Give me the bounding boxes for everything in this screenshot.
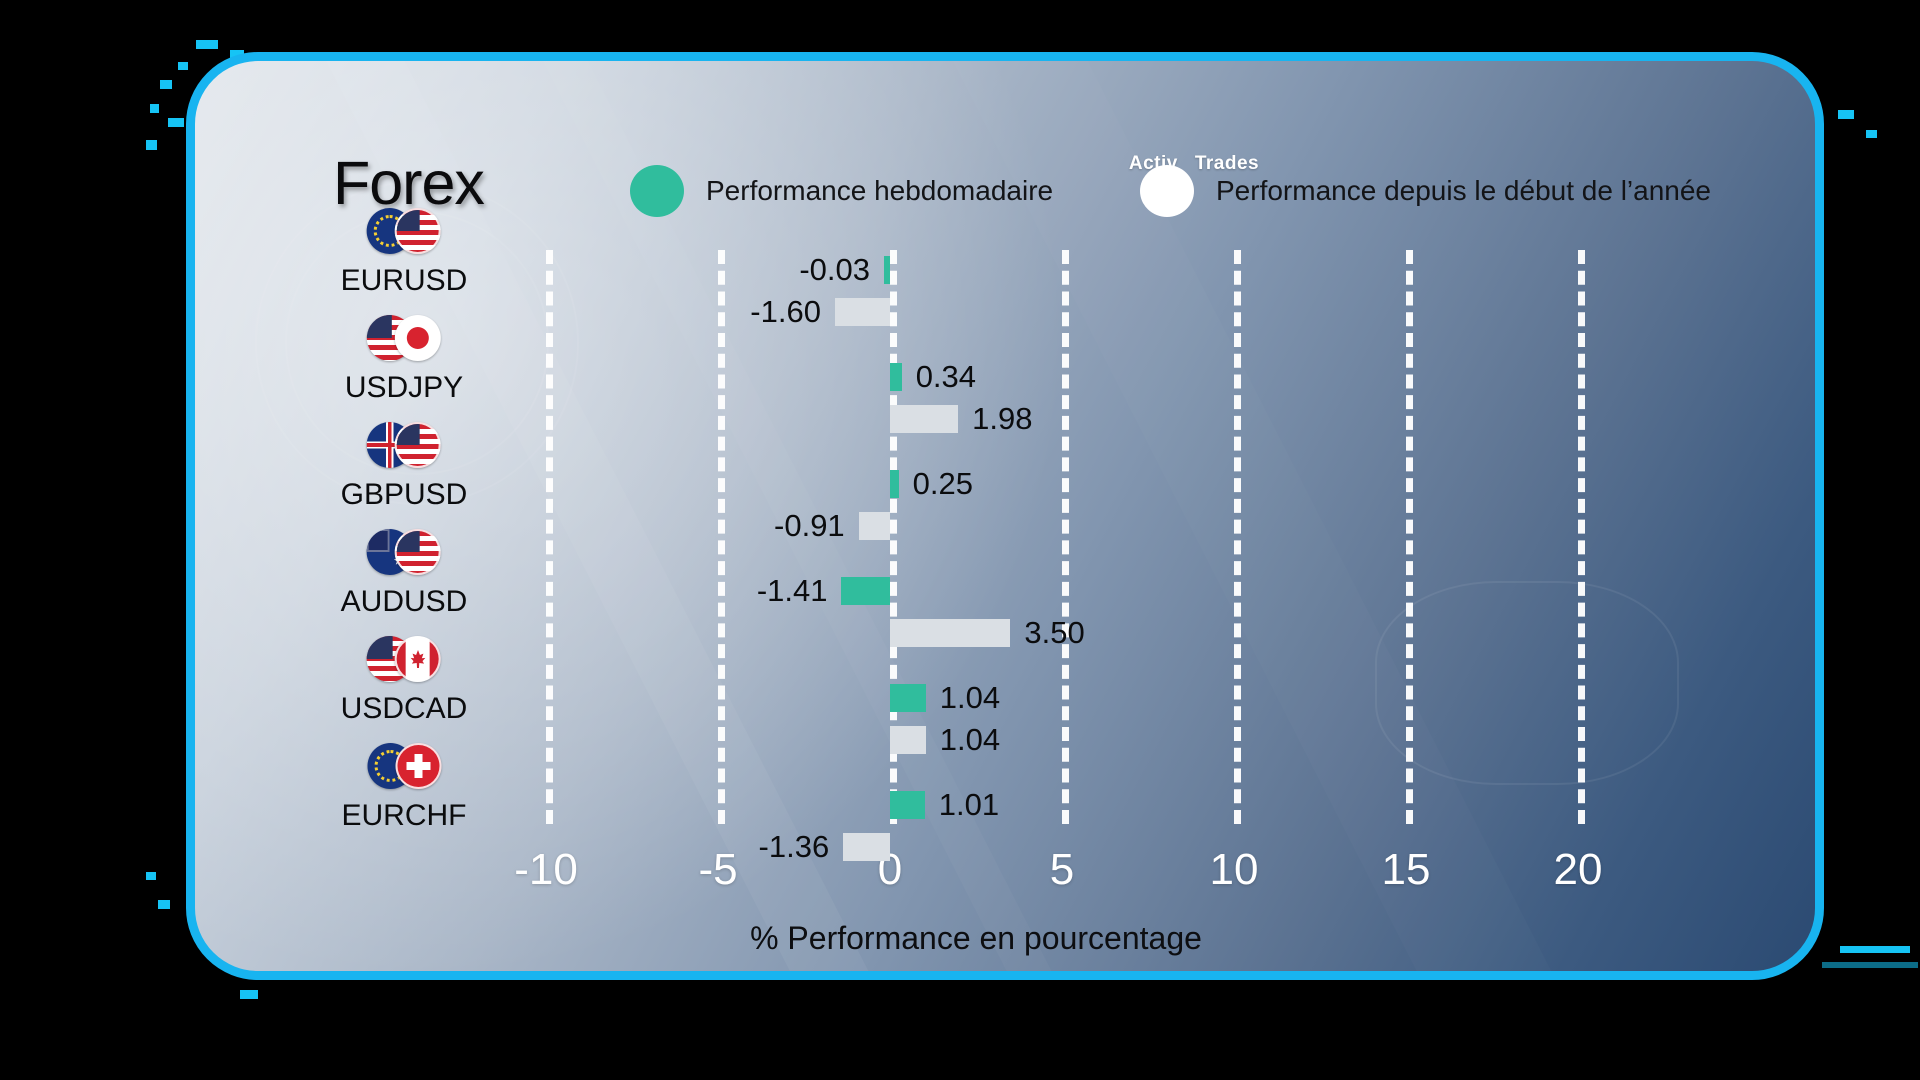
flag-us-icon bbox=[395, 208, 441, 254]
bar-gbpusd-ytd bbox=[859, 512, 890, 540]
category-label: AUDUSD bbox=[341, 585, 468, 619]
category-label: USDCAD bbox=[341, 692, 468, 726]
category-usdjpy: USDJPY bbox=[345, 315, 463, 405]
bar-usdcad-week bbox=[890, 684, 926, 712]
category-label: EURCHF bbox=[342, 799, 467, 833]
flag-jp-icon bbox=[395, 315, 441, 361]
value-label-gbpusd-week: 0.25 bbox=[913, 470, 973, 498]
flag-ca-icon bbox=[395, 636, 441, 682]
bar-eurusd-ytd bbox=[835, 298, 890, 326]
value-label-usdjpy-ytd: 1.98 bbox=[972, 405, 1032, 433]
gridline-15 bbox=[1406, 250, 1413, 824]
value-label-eurchf-ytd: -1.36 bbox=[759, 833, 830, 861]
category-label: GBPUSD bbox=[341, 478, 468, 512]
gridline-5 bbox=[1062, 250, 1069, 824]
category-audusd: AUDUSD bbox=[341, 529, 468, 619]
bar-eurusd-week bbox=[884, 256, 890, 284]
category-gbpusd: GBPUSD bbox=[341, 422, 468, 512]
x-tick-5: 5 bbox=[1050, 845, 1074, 895]
category-usdcad: USDCAD bbox=[341, 636, 468, 726]
category-label: EURUSD bbox=[341, 264, 468, 298]
bar-gbpusd-week bbox=[890, 470, 899, 498]
x-tick-10: 10 bbox=[1210, 845, 1259, 895]
bar-audusd-ytd bbox=[890, 619, 1010, 647]
value-label-audusd-week: -1.41 bbox=[757, 577, 828, 605]
flag-pair-eurusd bbox=[367, 208, 441, 258]
x-tick--5: -5 bbox=[698, 845, 737, 895]
bar-usdcad-ytd bbox=[890, 726, 926, 754]
flag-ch-icon bbox=[395, 743, 441, 789]
bar-usdjpy-ytd bbox=[890, 405, 958, 433]
bar-chart-plot: -10-505101520-0.03-1.60EURUSD0.341.98USD… bbox=[0, 0, 1920, 1080]
gridline--10 bbox=[546, 250, 553, 824]
screenshot-root: ActivTrades Forex Performance hebdomadai… bbox=[0, 0, 1920, 1080]
gridline-10 bbox=[1234, 250, 1241, 824]
value-label-audusd-ytd: 3.50 bbox=[1024, 619, 1084, 647]
value-label-usdcad-week: 1.04 bbox=[940, 684, 1000, 712]
x-tick-20: 20 bbox=[1554, 845, 1603, 895]
flag-pair-usdcad bbox=[367, 636, 441, 686]
flag-us-icon bbox=[395, 422, 441, 468]
flag-pair-gbpusd bbox=[367, 422, 441, 472]
x-tick-15: 15 bbox=[1382, 845, 1431, 895]
flag-us-icon bbox=[395, 529, 441, 575]
value-label-usdcad-ytd: 1.04 bbox=[940, 726, 1000, 754]
flag-pair-audusd bbox=[367, 529, 441, 579]
category-eurchf: EURCHF bbox=[342, 743, 467, 833]
gridline-20 bbox=[1578, 250, 1585, 824]
value-label-usdjpy-week: 0.34 bbox=[916, 363, 976, 391]
value-label-eurusd-week: -0.03 bbox=[799, 256, 870, 284]
flag-pair-eurchf bbox=[367, 743, 441, 793]
category-label: USDJPY bbox=[345, 371, 463, 405]
gridline--5 bbox=[718, 250, 725, 824]
bar-eurchf-week bbox=[890, 791, 925, 819]
value-label-gbpusd-ytd: -0.91 bbox=[774, 512, 845, 540]
bar-audusd-week bbox=[841, 577, 890, 605]
x-tick--10: -10 bbox=[514, 845, 578, 895]
value-label-eurchf-week: 1.01 bbox=[939, 791, 999, 819]
bar-usdjpy-week bbox=[890, 363, 902, 391]
category-eurusd: EURUSD bbox=[341, 208, 468, 298]
value-label-eurusd-ytd: -1.60 bbox=[750, 298, 821, 326]
flag-pair-usdjpy bbox=[367, 315, 441, 365]
bar-eurchf-ytd bbox=[843, 833, 890, 861]
x-axis-title: % Performance en pourcentage bbox=[750, 920, 1202, 957]
